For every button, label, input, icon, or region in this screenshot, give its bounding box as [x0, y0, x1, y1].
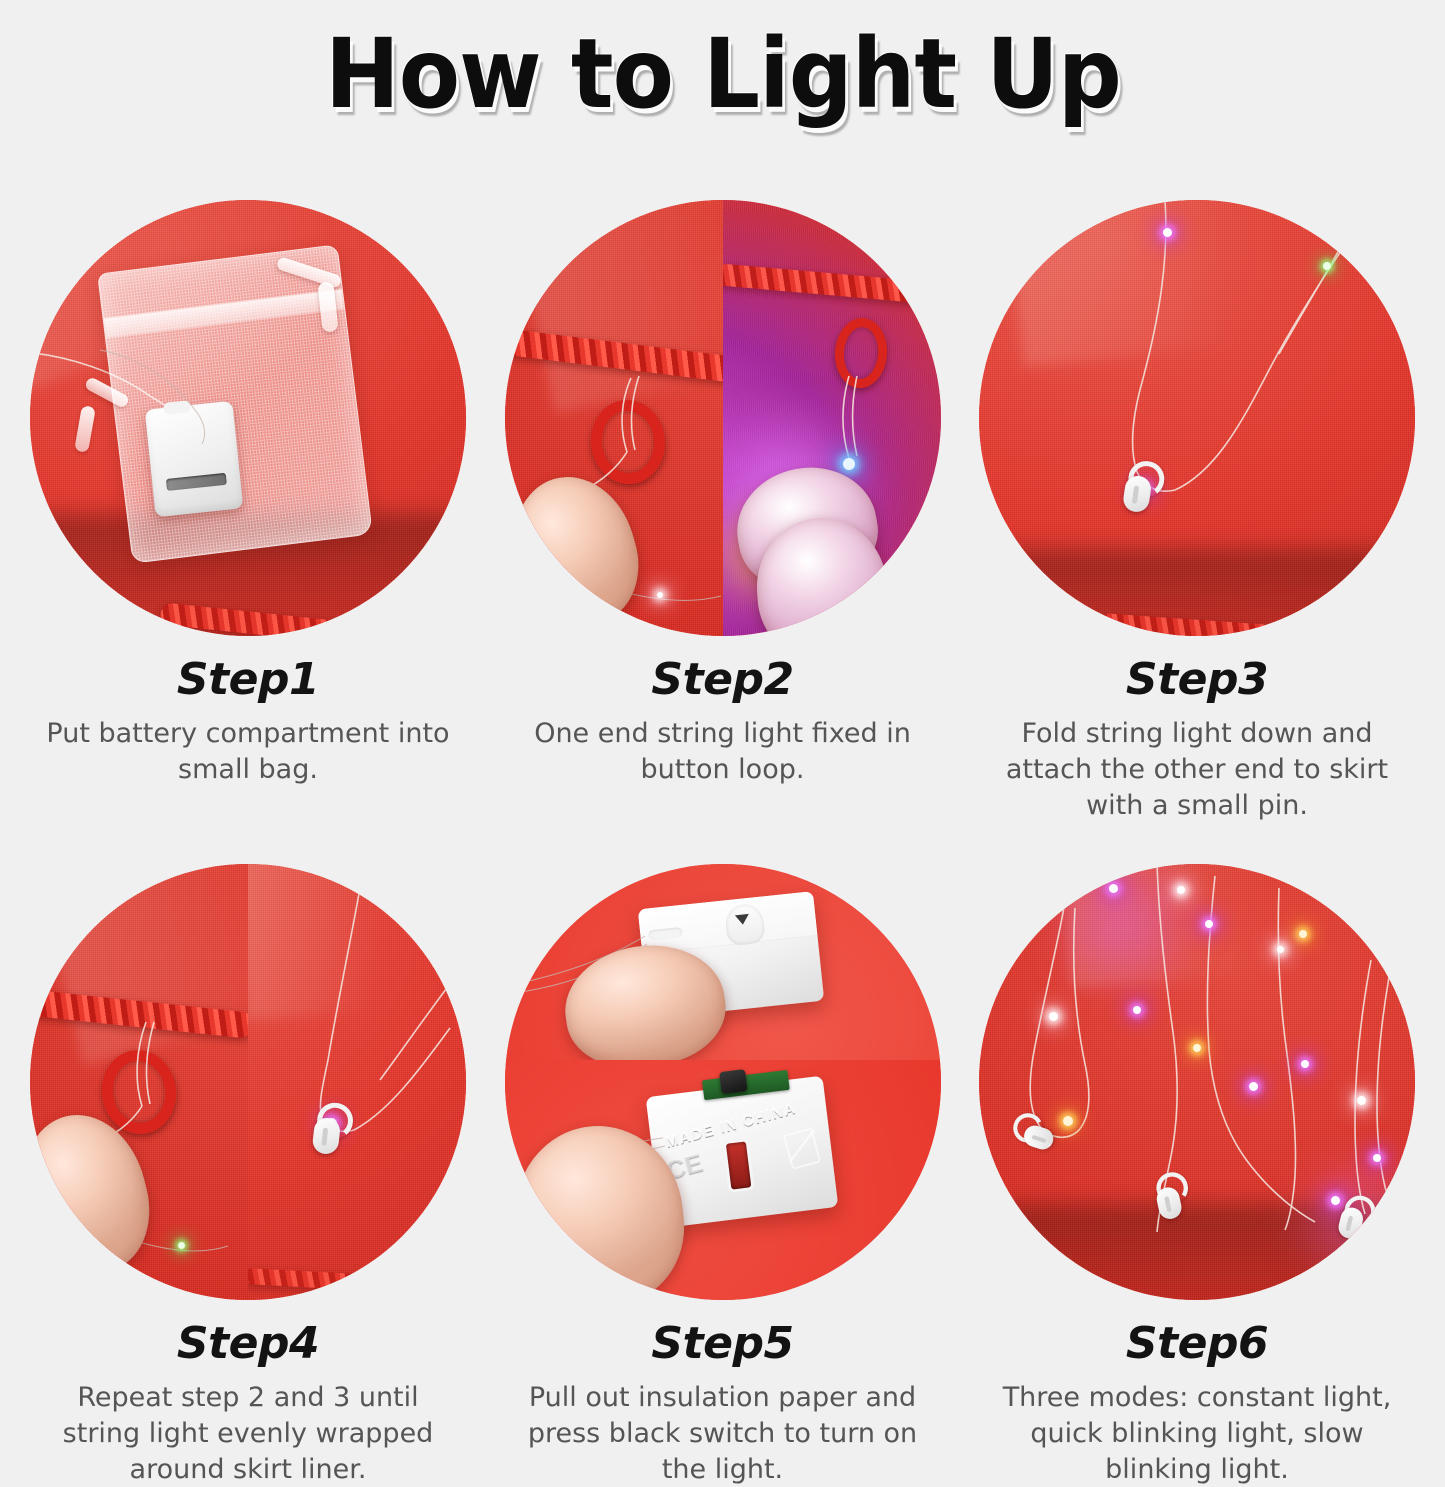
step4-loop-half	[30, 864, 248, 1300]
insulation-paper-slot	[725, 1141, 750, 1189]
step-description-4: Repeat step 2 and 3 until string light e…	[38, 1380, 458, 1487]
step-label-3: Step3	[1126, 658, 1268, 702]
step-image-3	[979, 200, 1415, 636]
step-label-5: Step5	[651, 1322, 793, 1366]
led-point-top	[1163, 228, 1172, 237]
step-image-4	[30, 864, 466, 1300]
step-cell-5: MADE IN CHINA CE	[503, 864, 943, 1487]
step2-unlit-half	[505, 200, 723, 636]
step-cell-2: Step2 One end string light fixed in butt…	[503, 200, 943, 824]
step2-lit-half	[723, 200, 941, 636]
lit-led	[843, 458, 855, 470]
steps-row-2: Step4 Repeat step 2 and 3 until string l…	[0, 864, 1445, 1487]
step-image-2	[505, 200, 941, 636]
step-description-5: Pull out insulation paper and press blac…	[513, 1380, 933, 1487]
step-image-5: MADE IN CHINA CE	[505, 864, 941, 1300]
step-image-6	[979, 864, 1415, 1300]
step-label-4: Step4	[177, 1322, 319, 1366]
step5-bottom-half: MADE IN CHINA CE	[505, 1060, 941, 1300]
step-description-6: Three modes: constant light, quick blink…	[987, 1380, 1407, 1487]
step-cell-6: Step6 Three modes: constant light, quick…	[977, 864, 1417, 1487]
led-point-right	[1323, 262, 1331, 270]
page-title: How to Light Up	[325, 26, 1121, 124]
step-label-2: Step2	[651, 658, 793, 702]
step-description-1: Put battery compartment into small bag.	[38, 716, 458, 788]
step-image-1	[30, 200, 466, 636]
steps-row-1: Step1 Put battery compartment into small…	[0, 200, 1445, 824]
step-label-6: Step6	[1126, 1322, 1268, 1366]
step5-top-half	[505, 864, 941, 1060]
battery-compartment	[145, 401, 244, 518]
step4-pin-half	[248, 864, 466, 1300]
how-to-light-up-infographic: How to Light Up	[0, 0, 1445, 1445]
step-cell-4: Step4 Repeat step 2 and 3 until string l…	[28, 864, 468, 1487]
step-description-3: Fold string light down and attach the ot…	[987, 716, 1407, 824]
safety-pin	[1118, 460, 1159, 516]
page-title-wrap: How to Light Up	[0, 26, 1445, 124]
weee-icon	[782, 1127, 820, 1170]
step-description-2: One end string light fixed in button loo…	[513, 716, 933, 788]
steps-grid: Step1 Put battery compartment into small…	[0, 200, 1445, 1487]
black-switch	[719, 1069, 747, 1094]
safety-pin-4	[307, 1102, 346, 1157]
step-label-1: Step1	[177, 658, 319, 702]
arrow-icon	[734, 914, 749, 925]
step-cell-1: Step1 Put battery compartment into small…	[28, 200, 468, 824]
step-cell-3: Step3 Fold string light down and attach …	[977, 200, 1417, 824]
